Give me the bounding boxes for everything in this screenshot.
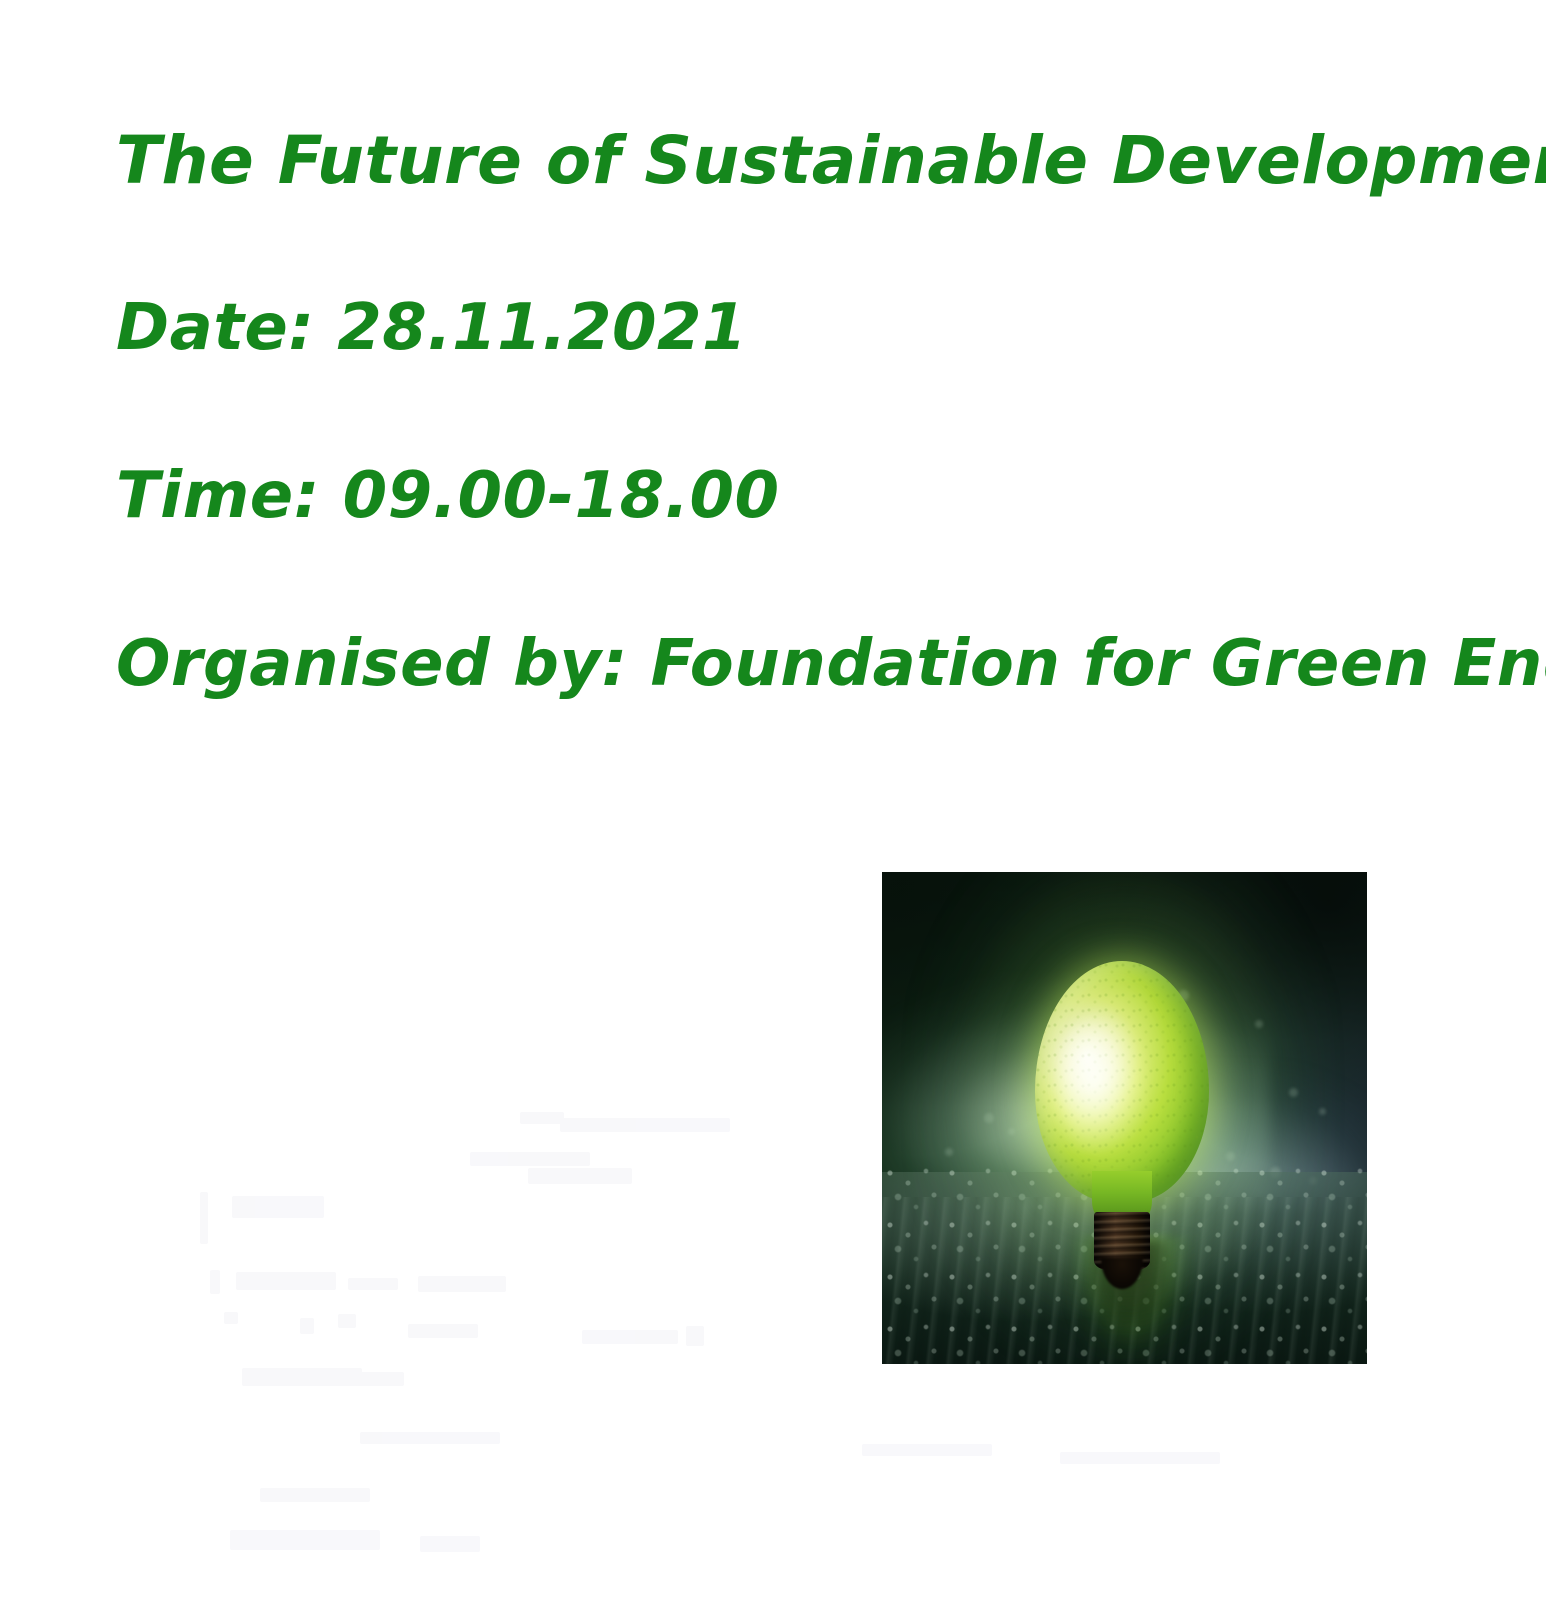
green-light-bulb-photo <box>882 872 1367 1364</box>
light-bulb <box>1035 961 1210 1271</box>
event-date-line: Date: 28.11.2021 <box>116 296 1496 360</box>
bulb-hotspot <box>1056 1016 1147 1152</box>
poster-title: The Future of Sustainable Development <box>116 128 1496 194</box>
poster-text-block: The Future of Sustainable Development Da… <box>116 128 1496 696</box>
photo-inner <box>882 872 1367 1364</box>
event-poster: The Future of Sustainable Development Da… <box>0 0 1546 1600</box>
event-organiser-line: Organised by: Foundation for Green Energ… <box>116 632 1496 696</box>
event-time-line: Time: 09.00-18.00 <box>116 464 1496 528</box>
